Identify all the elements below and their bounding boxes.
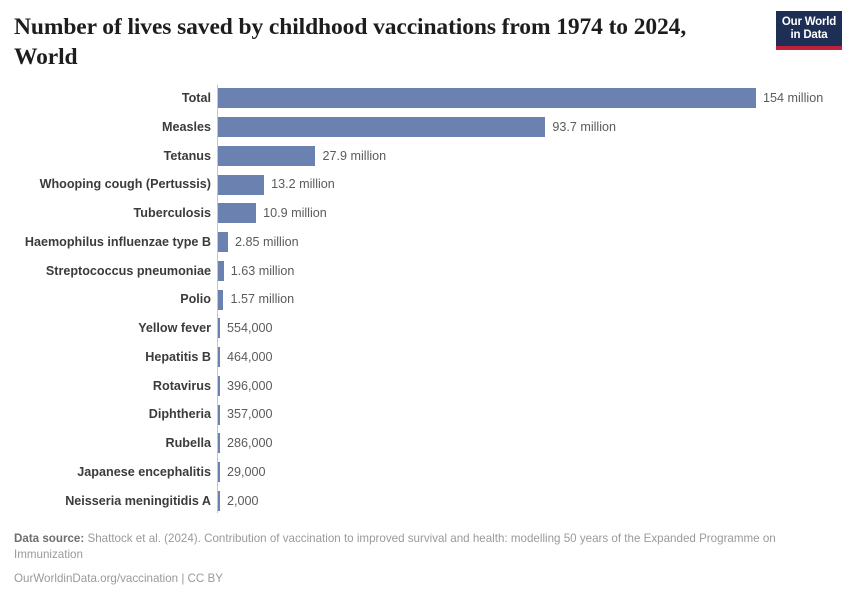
- bar-value-label: 2,000: [227, 495, 259, 508]
- bar-row[interactable]: Japanese encephalitis29,000: [0, 458, 850, 487]
- bar-value-label: 13.2 million: [271, 178, 335, 191]
- bar[interactable]: [218, 88, 756, 108]
- bar-value-label: 1.57 million: [230, 293, 294, 306]
- bar-value-label: 357,000: [227, 408, 273, 421]
- bar-category-label: Measles: [162, 113, 211, 142]
- bar-category-label: Tuberculosis: [134, 199, 211, 228]
- bar-category-label: Neisseria meningitidis A: [65, 487, 211, 516]
- bar-row[interactable]: Streptococcus pneumoniae1.63 million: [0, 257, 850, 286]
- bar[interactable]: [218, 290, 223, 310]
- bar-row[interactable]: Rubella286,000: [0, 429, 850, 458]
- bar[interactable]: [218, 203, 256, 223]
- bar-value-label: 396,000: [227, 380, 273, 393]
- bar-value-label: 464,000: [227, 351, 273, 364]
- bar-row[interactable]: Total154 million: [0, 84, 850, 113]
- bar-row[interactable]: Tetanus27.9 million: [0, 142, 850, 171]
- bar-and-value: 464,000: [218, 343, 273, 372]
- bar[interactable]: [218, 405, 220, 425]
- bar-row[interactable]: Hepatitis B464,000: [0, 343, 850, 372]
- bar-value-label: 29,000: [227, 466, 266, 479]
- bar-and-value: 154 million: [218, 84, 823, 113]
- bar-category-label: Tetanus: [164, 142, 211, 171]
- bar-category-label: Whooping cough (Pertussis): [40, 170, 211, 199]
- bar-category-label: Polio: [180, 285, 211, 314]
- bar-row[interactable]: Neisseria meningitidis A2,000: [0, 487, 850, 516]
- bar-and-value: 27.9 million: [218, 142, 386, 171]
- bar-value-label: 2.85 million: [235, 236, 299, 249]
- bar-and-value: 554,000: [218, 314, 273, 343]
- bar-category-label: Diphtheria: [149, 400, 211, 429]
- bar-value-label: 27.9 million: [322, 150, 386, 163]
- bar-and-value: 10.9 million: [218, 199, 327, 228]
- bar-row[interactable]: Tuberculosis10.9 million: [0, 199, 850, 228]
- bar-row[interactable]: Measles93.7 million: [0, 113, 850, 142]
- bar-category-label: Streptococcus pneumoniae: [46, 257, 211, 286]
- chart-container: Number of lives saved by childhood vacci…: [0, 0, 850, 600]
- bar[interactable]: [218, 347, 220, 367]
- bar-value-label: 154 million: [763, 92, 823, 105]
- bar[interactable]: [218, 433, 220, 453]
- plot-area: Total154 millionMeasles93.7 millionTetan…: [0, 84, 850, 514]
- bar-row[interactable]: Haemophilus influenzae type B2.85 millio…: [0, 228, 850, 257]
- bar[interactable]: [218, 376, 220, 396]
- data-source-text: Data source: Shattock et al. (2024). Con…: [14, 531, 804, 564]
- bar-category-label: Haemophilus influenzae type B: [25, 228, 211, 257]
- bar-and-value: 1.57 million: [218, 285, 294, 314]
- bar-and-value: 2,000: [218, 487, 259, 516]
- bar-row[interactable]: Whooping cough (Pertussis)13.2 million: [0, 170, 850, 199]
- bar[interactable]: [218, 462, 220, 482]
- bar-rows: Total154 millionMeasles93.7 millionTetan…: [0, 84, 850, 515]
- bar-value-label: 1.63 million: [231, 265, 295, 278]
- bar-category-label: Rotavirus: [153, 372, 211, 401]
- bar-value-label: 93.7 million: [552, 121, 616, 134]
- bar-category-label: Total: [182, 84, 211, 113]
- bar-row[interactable]: Yellow fever554,000: [0, 314, 850, 343]
- bar[interactable]: [218, 261, 224, 281]
- owid-logo[interactable]: Our World in Data: [776, 11, 842, 50]
- bar-category-label: Yellow fever: [138, 314, 211, 343]
- bar-and-value: 13.2 million: [218, 170, 335, 199]
- bar-value-label: 554,000: [227, 322, 273, 335]
- footer-link[interactable]: OurWorldinData.org/vaccination | CC BY: [14, 571, 804, 587]
- bar-category-label: Hepatitis B: [145, 343, 211, 372]
- bar[interactable]: [218, 175, 264, 195]
- bar[interactable]: [218, 146, 315, 166]
- bar-row[interactable]: Polio1.57 million: [0, 285, 850, 314]
- data-source-citation: Shattock et al. (2024). Contribution of …: [14, 532, 776, 561]
- bar-and-value: 93.7 million: [218, 113, 616, 142]
- bar-and-value: 29,000: [218, 458, 266, 487]
- logo-line-2: in Data: [781, 29, 837, 42]
- logo-line-1: Our World: [781, 16, 837, 29]
- chart-footer: Data source: Shattock et al. (2024). Con…: [14, 531, 804, 587]
- bar-and-value: 2.85 million: [218, 228, 299, 257]
- bar[interactable]: [218, 117, 545, 137]
- bar-category-label: Japanese encephalitis: [77, 458, 211, 487]
- data-source-label: Data source:: [14, 532, 84, 545]
- bar-category-label: Rubella: [166, 429, 212, 458]
- bar-row[interactable]: Rotavirus396,000: [0, 372, 850, 401]
- bar[interactable]: [218, 318, 220, 338]
- bar-and-value: 1.63 million: [218, 257, 294, 286]
- bar-value-label: 286,000: [227, 437, 273, 450]
- page-title: Number of lives saved by childhood vacci…: [14, 12, 754, 72]
- bar-and-value: 286,000: [218, 429, 273, 458]
- bar-value-label: 10.9 million: [263, 207, 327, 220]
- bar[interactable]: [218, 491, 220, 511]
- bar-and-value: 396,000: [218, 372, 273, 401]
- chart-header: Number of lives saved by childhood vacci…: [14, 12, 754, 72]
- bar[interactable]: [218, 232, 228, 252]
- bar-and-value: 357,000: [218, 400, 273, 429]
- bar-row[interactable]: Diphtheria357,000: [0, 400, 850, 429]
